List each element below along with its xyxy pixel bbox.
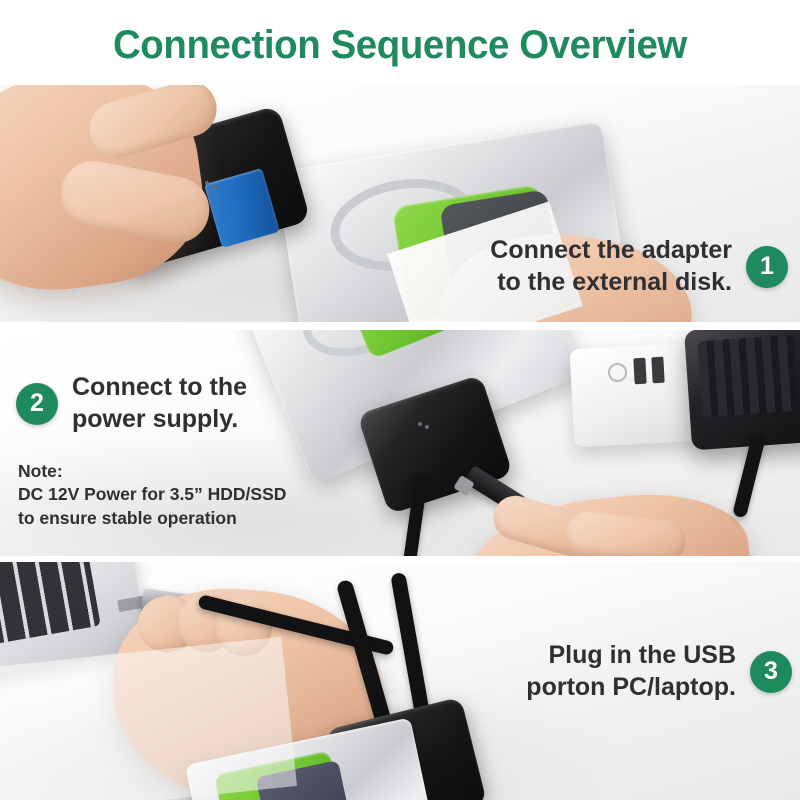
note-line-2: DC 12V Power for 3.5” HDD/SSD (18, 483, 286, 506)
step-2-line-2: power supply. (72, 404, 247, 436)
step-1-panel: Connect the adapter to the external disk… (0, 85, 800, 322)
step-2-badge: 2 (16, 383, 58, 425)
step-1-line-1: Connect the adapter (490, 236, 732, 264)
adapter-led-dots (418, 422, 422, 426)
step-1-badge: 1 (746, 246, 788, 288)
infographic-page: Connection Sequence Overview (0, 0, 800, 800)
usb-hub-port-2 (651, 357, 664, 384)
step-2-text: Connect to the power supply. (72, 372, 247, 435)
step-3-line-1: Plug in the USB (549, 641, 737, 669)
note-block: Note: DC 12V Power for 3.5” HDD/SSD to e… (18, 460, 286, 530)
note-line-1: Note: (18, 460, 286, 483)
step-3-panel: Plug in the USB porton PC/laptop. 3 (0, 562, 800, 800)
title-bar: Connection Sequence Overview (0, 0, 800, 85)
step-3-caption: Plug in the USB porton PC/laptop. 3 (526, 640, 792, 703)
adapter-led-dots (205, 181, 209, 185)
page-title: Connection Sequence Overview (113, 21, 687, 65)
step-3-text: Plug in the USB porton PC/laptop. (526, 640, 736, 703)
paper-sheet (0, 637, 297, 800)
step-3-line-2: porton PC/laptop. (526, 672, 736, 704)
step-1-line-2: to the external disk. (490, 267, 732, 299)
step-3-badge: 3 (750, 651, 792, 693)
step-2-caption: 2 Connect to the power supply. (16, 372, 247, 435)
usb-hub-port-1 (633, 358, 646, 385)
step-2-panel: 2 Connect to the power supply. Note: DC … (0, 330, 800, 556)
step-2-line-1: Connect to the (72, 373, 247, 401)
usb-hub-power-ring-icon (608, 363, 627, 382)
note-line-3: to ensure stable operation (18, 507, 286, 530)
step-1-caption: Connect the adapter to the external disk… (490, 235, 788, 298)
power-brick-vents (697, 335, 798, 418)
step-1-text: Connect the adapter to the external disk… (490, 235, 732, 298)
